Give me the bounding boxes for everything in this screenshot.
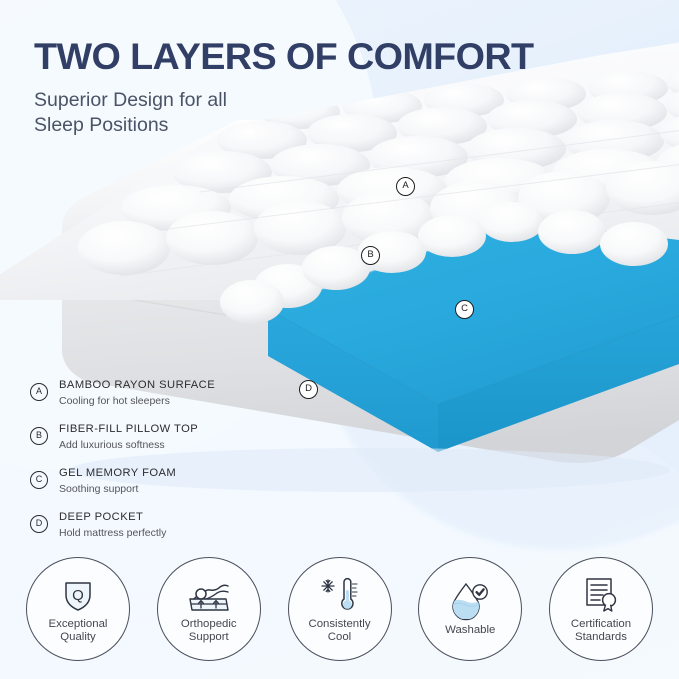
feature-label: Certification Standards xyxy=(565,618,637,644)
feature-label-line1: Certification xyxy=(571,618,631,631)
legend-text-group: FIBER-FILL PILLOW TOP Add luxurious soft… xyxy=(59,422,198,452)
feature-badge-row: Q Exceptional Quality xyxy=(0,557,679,661)
feature-label-line1: Washable xyxy=(445,624,495,637)
legend-item-deep-pocket: D DEEP POCKET Hold mattress perfectly xyxy=(30,510,330,540)
layer-legend: A BAMBOO RAYON SURFACE Cooling for hot s… xyxy=(30,378,330,554)
legend-badge-c: C xyxy=(30,471,48,489)
legend-badge-b: B xyxy=(30,427,48,445)
legend-item-gel-memory-foam: C GEL MEMORY FOAM Soothing support xyxy=(30,466,330,496)
legend-text-group: DEEP POCKET Hold mattress perfectly xyxy=(59,510,166,540)
svg-text:Q: Q xyxy=(72,587,84,604)
legend-title: DEEP POCKET xyxy=(59,510,166,524)
legend-text-group: BAMBOO RAYON SURFACE Cooling for hot sle… xyxy=(59,378,215,408)
legend-badge-a: A xyxy=(30,383,48,401)
feature-label-line2: Support xyxy=(181,631,237,644)
legend-item-bamboo-rayon-surface: A BAMBOO RAYON SURFACE Cooling for hot s… xyxy=(30,378,330,408)
header: TWO LAYERS OF COMFORT Superior Design fo… xyxy=(34,36,524,138)
feature-label-line1: Orthopedic xyxy=(181,618,237,631)
legend-title: GEL MEMORY FOAM xyxy=(59,466,176,480)
legend-badge-d: D xyxy=(30,515,48,533)
page-subtitle-line2: Sleep Positions xyxy=(34,113,524,138)
feature-label-line2: Quality xyxy=(49,631,108,644)
water-drop-check-icon xyxy=(449,581,491,621)
feature-label-line1: Consistently xyxy=(308,618,370,631)
orthopedic-support-icon xyxy=(186,575,232,615)
feature-label: Consistently Cool xyxy=(302,618,376,644)
shield-quality-icon: Q xyxy=(58,575,98,615)
callout-marker-b[interactable]: B xyxy=(361,246,380,265)
feature-label-line2: Cool xyxy=(308,631,370,644)
product-infographic: TWO LAYERS OF COMFORT Superior Design fo… xyxy=(0,0,679,679)
feature-badge-exceptional-quality[interactable]: Q Exceptional Quality xyxy=(26,557,130,661)
certificate-ribbon-icon xyxy=(580,575,622,615)
feature-label: Washable xyxy=(439,624,501,637)
legend-subtitle: Soothing support xyxy=(59,482,176,496)
legend-subtitle: Cooling for hot sleepers xyxy=(59,394,215,408)
feature-badge-certification-standards[interactable]: Certification Standards xyxy=(549,557,653,661)
thermometer-snowflake-icon xyxy=(318,575,362,615)
legend-subtitle: Hold mattress perfectly xyxy=(59,526,166,540)
feature-badge-orthopedic-support[interactable]: Orthopedic Support xyxy=(157,557,261,661)
legend-item-fiber-fill-pillow-top: B FIBER-FILL PILLOW TOP Add luxurious so… xyxy=(30,422,330,452)
callout-marker-d[interactable]: D xyxy=(299,380,318,399)
feature-badge-washable[interactable]: Washable xyxy=(418,557,522,661)
feature-label: Exceptional Quality xyxy=(43,618,114,644)
callout-marker-a[interactable]: A xyxy=(396,177,415,196)
feature-label: Orthopedic Support xyxy=(175,618,243,644)
page-subtitle: Superior Design for all Sleep Positions xyxy=(34,88,524,138)
feature-label-line2: Standards xyxy=(571,631,631,644)
page-subtitle-line1: Superior Design for all xyxy=(34,88,524,113)
feature-badge-consistently-cool[interactable]: Consistently Cool xyxy=(288,557,392,661)
legend-title: FIBER-FILL PILLOW TOP xyxy=(59,422,198,436)
feature-label-line1: Exceptional xyxy=(49,618,108,631)
legend-title: BAMBOO RAYON SURFACE xyxy=(59,378,215,392)
callout-marker-c[interactable]: C xyxy=(455,300,474,319)
legend-subtitle: Add luxurious softness xyxy=(59,438,198,452)
legend-text-group: GEL MEMORY FOAM Soothing support xyxy=(59,466,176,496)
page-title: TWO LAYERS OF COMFORT xyxy=(34,36,533,78)
